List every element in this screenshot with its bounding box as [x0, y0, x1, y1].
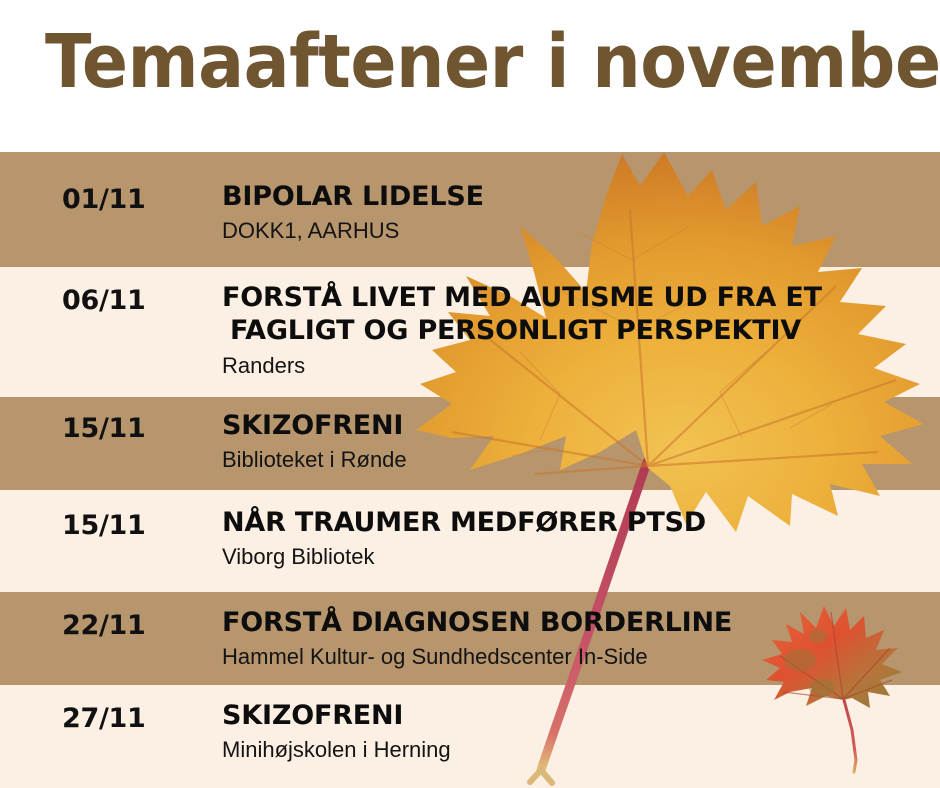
event-venue: Viborg Bibliotek [222, 543, 922, 571]
event-body: SKIZOFRENI Minihøjskolen i Herning [222, 699, 922, 764]
poster-canvas: Temaaftener i november 01/11 BIPOLAR LID… [0, 0, 940, 788]
event-title: NÅR TRAUMER MEDFØRER PTSD [222, 506, 922, 539]
list-item[interactable]: 01/11 BIPOLAR LIDELSE DOKK1, AARHUS [0, 152, 940, 267]
event-venue: Minihøjskolen i Herning [222, 736, 922, 764]
event-body: FORSTÅ DIAGNOSEN BORDERLINE Hammel Kultu… [222, 606, 922, 671]
event-date: 06/11 [62, 285, 146, 316]
event-venue: Hammel Kultur- og Sundhedscenter In-Side [222, 643, 922, 671]
event-title-line: SKIZOFRENI [222, 699, 922, 732]
event-date: 27/11 [62, 703, 146, 734]
event-title-line: SKIZOFRENI [222, 409, 922, 442]
event-venue: DOKK1, AARHUS [222, 217, 922, 245]
event-body: NÅR TRAUMER MEDFØRER PTSD Viborg Bibliot… [222, 506, 922, 571]
event-title: FORSTÅ DIAGNOSEN BORDERLINE [222, 606, 922, 639]
event-date: 01/11 [62, 184, 146, 215]
list-item[interactable]: 27/11 SKIZOFRENI Minihøjskolen i Herning [0, 685, 940, 788]
event-title-line: BIPOLAR LIDELSE [222, 180, 922, 213]
event-title: SKIZOFRENI [222, 699, 922, 732]
list-item[interactable]: 06/11 FORSTÅ LIVET MED AUTISME UD FRA ET… [0, 267, 940, 397]
page-title: Temaaftener i november [45, 23, 940, 103]
event-title-line: FAGLIGT OG PERSONLIGT PERSPEKTIV [222, 314, 922, 347]
event-date: 15/11 [62, 510, 146, 541]
event-venue: Randers [222, 352, 922, 380]
list-item[interactable]: 22/11 FORSTÅ DIAGNOSEN BORDERLINE Hammel… [0, 592, 940, 685]
event-title: BIPOLAR LIDELSE [222, 180, 922, 213]
title-band: Temaaftener i november [0, 0, 940, 152]
event-date: 15/11 [62, 413, 146, 444]
event-body: SKIZOFRENI Biblioteket i Rønde [222, 409, 922, 474]
event-title: SKIZOFRENI [222, 409, 922, 442]
event-title-line: NÅR TRAUMER MEDFØRER PTSD [222, 506, 922, 539]
event-body: FORSTÅ LIVET MED AUTISME UD FRA ET FAGLI… [222, 281, 922, 379]
event-venue: Biblioteket i Rønde [222, 446, 922, 474]
event-body: BIPOLAR LIDELSE DOKK1, AARHUS [222, 180, 922, 245]
list-item[interactable]: 15/11 NÅR TRAUMER MEDFØRER PTSD Viborg B… [0, 490, 940, 592]
list-item[interactable]: 15/11 SKIZOFRENI Biblioteket i Rønde [0, 397, 940, 490]
event-title-line: FORSTÅ DIAGNOSEN BORDERLINE [222, 606, 922, 639]
event-title-line: FORSTÅ LIVET MED AUTISME UD FRA ET [222, 281, 922, 314]
event-date: 22/11 [62, 610, 146, 641]
event-title: FORSTÅ LIVET MED AUTISME UD FRA ET FAGLI… [222, 281, 922, 348]
